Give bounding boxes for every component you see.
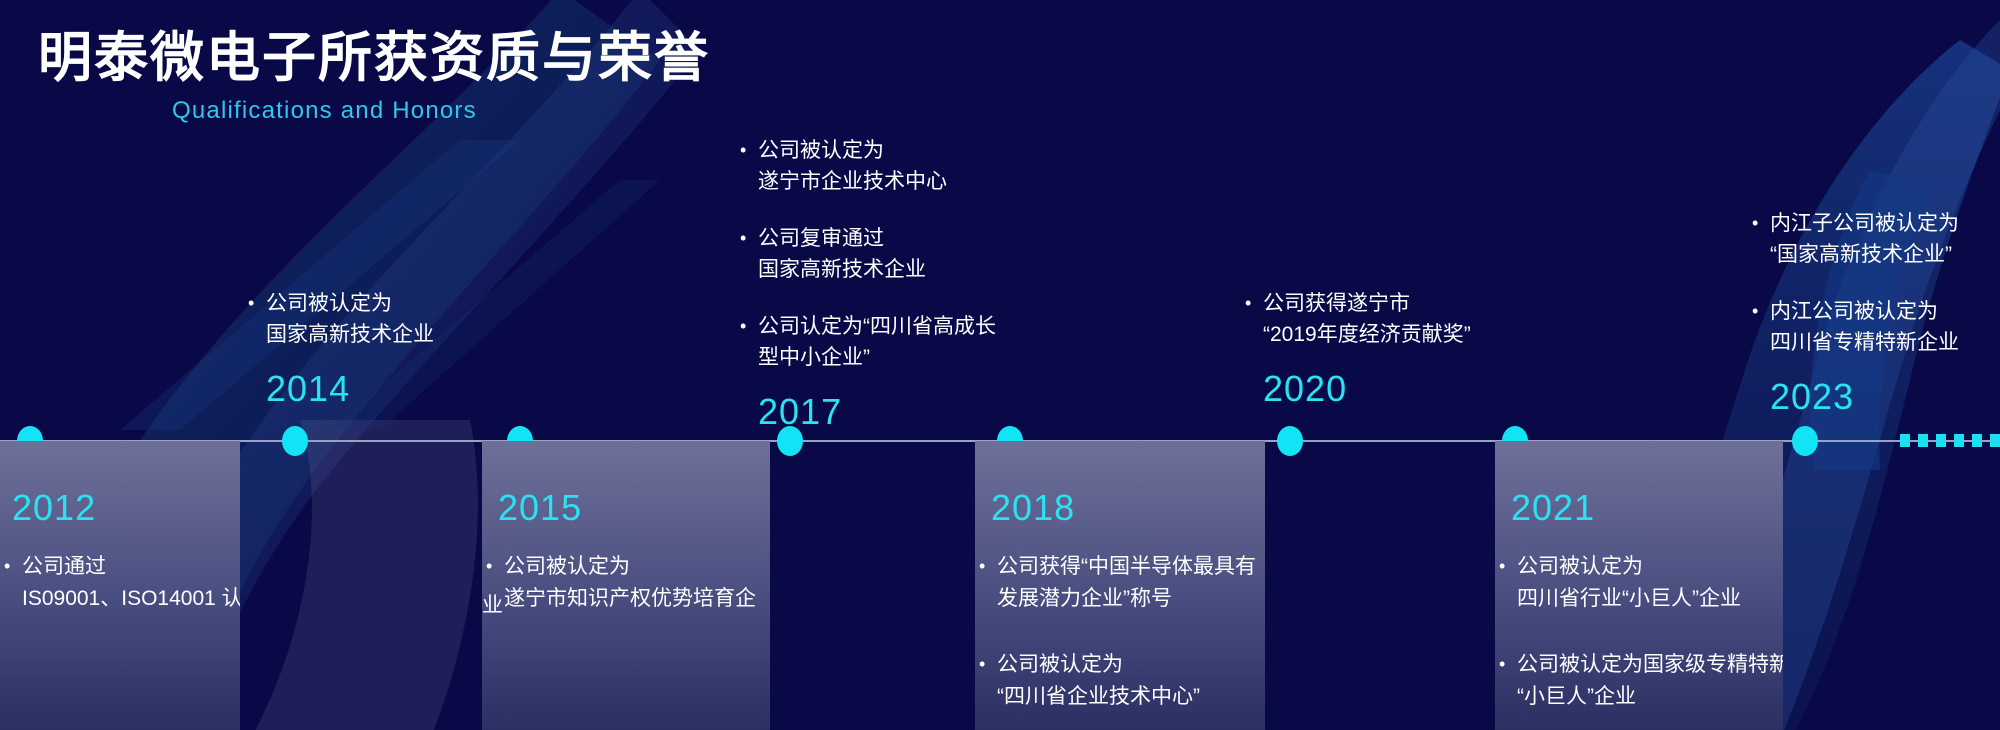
list-item: •公司被认定为四川省行业“小巨人”企业 [1499,551,1783,615]
overflow-text-2015: 业 [482,590,503,622]
dot-2020[interactable] [1277,426,1303,456]
year-label-2015: 2015 [498,487,582,529]
timeline-entry-2017: •公司被认定为遂宁市企业技术中心•公司复审通过国家高新技术企业•公司认定为“四川… [740,135,996,433]
year-label-2023: 2023 [1770,376,1959,418]
entry-2017-bullet-list: •公司被认定为遂宁市企业技术中心•公司复审通过国家高新技术企业•公司认定为“四川… [740,135,996,373]
text-line: 公司被认定为国家级专精特新 [1517,649,1783,681]
year-label-2017: 2017 [758,391,996,433]
timeline-entry-2020: •公司获得遂宁市“2019年度经济贡献奖”2020 [1245,288,1471,410]
text-line: “四川省企业技术中心” [997,681,1200,713]
text-line: 公司复审通过 [758,223,926,254]
entry-2021-bullet-list: •公司被认定为四川省行业“小巨人”企业•公司被认定为国家级专精特新“小巨人”企业 [1499,551,1783,730]
list-item-text: 公司认定为“四川省高成长型中小企业” [758,311,996,373]
list-item: •公司通过IS09001、ISO14001 认证 [4,551,240,615]
list-item: •内江公司被认定为四川省专精特新企业 [1752,296,1959,358]
list-item-text: 公司被认定为遂宁市企业技术中心 [758,135,947,197]
list-item: •公司认定为“四川省高成长型中小企业” [740,311,996,373]
bullet-dot-icon: • [740,223,758,285]
list-item: •公司复审通过国家高新技术企业 [740,223,996,285]
text-line: 公司被认定为 [758,135,947,166]
bullet-dot-icon: • [4,551,22,615]
text-line: 国家高新技术企业 [266,319,434,350]
year-label-2021: 2021 [1511,487,1595,529]
text-line: 公司通过 [22,551,240,583]
year-label-2020: 2020 [1263,368,1471,410]
year-label-2012: 2012 [12,487,96,529]
dash-mark [1918,434,1928,447]
year-label-2018: 2018 [991,487,1075,529]
entry-2020-bullet-list: •公司获得遂宁市“2019年度经济贡献奖” [1245,288,1471,350]
dash-mark [1900,434,1910,447]
list-item: •公司获得遂宁市“2019年度经济贡献奖” [1245,288,1471,350]
bullet-dot-icon: • [1752,296,1770,358]
list-item: •公司被认定为“四川省企业技术中心” [979,649,1256,713]
list-item: •公司被认定为国家高新技术企业 [248,288,434,350]
text-line: “小巨人”企业 [1517,681,1783,713]
text-line: 公司被认定为 [1517,551,1741,583]
text-line: “2019年度经济贡献奖” [1263,319,1471,350]
text-line: “国家高新技术企业” [1770,239,1959,270]
text-line: 公司被认定为 [504,551,756,583]
text-line: 公司被认定为 [997,649,1200,681]
bullet-dot-icon: • [1752,208,1770,270]
timeline-infographic: 明泰微电子所获资质与荣誉 Qualifications and Honors •… [0,0,2000,730]
text-line: 发展潜力企业”称号 [997,583,1256,615]
list-item: •公司被认定为遂宁市知识产权优势培育企 [486,551,756,615]
page-subtitle: Qualifications and Honors [172,97,710,125]
bullet-dot-icon: • [740,135,758,197]
entry-2018-bullet-list: •公司获得“中国半导体最具有发展潜力企业”称号•公司被认定为“四川省企业技术中心… [979,551,1256,730]
text-line: 内江子公司被认定为 [1770,208,1959,239]
timeline-continuation-dashes [1900,434,2000,447]
bullet-dot-icon: • [248,288,266,350]
bullet-dot-icon: • [740,311,758,373]
dash-mark [1936,434,1946,447]
list-item-text: 内江子公司被认定为“国家高新技术企业” [1770,208,1959,270]
dash-mark [1972,434,1982,447]
list-item-text: 内江公司被认定为四川省专精特新企业 [1770,296,1959,358]
list-item-text: 公司被认定为遂宁市知识产权优势培育企 [504,551,756,615]
list-item-text: 公司复审通过国家高新技术企业 [758,223,926,285]
text-line: 遂宁市企业技术中心 [758,166,947,197]
text-line: 公司认定为“四川省高成长 [758,311,996,342]
list-item-text: 公司获得遂宁市“2019年度经济贡献奖” [1263,288,1471,350]
bullet-dot-icon: • [1499,551,1517,615]
header: 明泰微电子所获资质与荣誉 Qualifications and Honors [38,30,710,125]
list-item-text: 公司被认定为国家级专精特新“小巨人”企业 [1517,649,1783,713]
list-item-text: 公司被认定为“四川省企业技术中心” [997,649,1200,713]
text-line: 公司获得“中国半导体最具有 [997,551,1256,583]
text-line: IS09001、ISO14001 认证 [22,583,240,615]
bullet-dot-icon: • [1245,288,1263,350]
list-item: •公司被认定为国家级专精特新“小巨人”企业 [1499,649,1783,713]
list-item: •公司被认定为遂宁市企业技术中心 [740,135,996,197]
text-line: 国家高新技术企业 [758,254,926,285]
timeline-panel-2018: 2018•公司获得“中国半导体最具有发展潜力企业”称号•公司被认定为“四川省企业… [975,441,1265,730]
text-line: 公司获得遂宁市 [1263,288,1471,319]
list-item: •内江子公司被认定为“国家高新技术企业” [1752,208,1959,270]
timeline-panel-2012: 2012•公司通过IS09001、ISO14001 认证 [0,441,240,730]
dot-2014[interactable] [282,426,308,456]
text-line: 四川省行业“小巨人”企业 [1517,583,1741,615]
bullet-dot-icon: • [979,551,997,615]
timeline-entry-2014: •公司被认定为国家高新技术企业2014 [248,288,434,410]
page-title: 明泰微电子所获资质与荣誉 [38,30,710,87]
entry-2014-bullet-list: •公司被认定为国家高新技术企业 [248,288,434,350]
dash-mark [1954,434,1964,447]
entry-2012-bullet-list: •公司通过IS09001、ISO14001 认证 [4,551,240,649]
list-item-text: 公司获得“中国半导体最具有发展潜力企业”称号 [997,551,1256,615]
dash-mark [1990,434,2000,447]
timeline-panel-2021: 2021•公司被认定为四川省行业“小巨人”企业•公司被认定为国家级专精特新“小巨… [1495,441,1783,730]
bullet-dot-icon: • [1499,649,1517,713]
year-label-2014: 2014 [266,368,434,410]
text-line: 四川省专精特新企业 [1770,327,1959,358]
list-item-text: 公司被认定为国家高新技术企业 [266,288,434,350]
list-item-text: 公司被认定为四川省行业“小巨人”企业 [1517,551,1741,615]
text-line: 内江公司被认定为 [1770,296,1959,327]
list-item-text: 公司通过IS09001、ISO14001 认证 [22,551,240,615]
dot-2023[interactable] [1792,426,1818,456]
bullet-dot-icon: • [979,649,997,713]
text-line: 型中小企业” [758,342,996,373]
text-line: 公司被认定为 [266,288,434,319]
entry-2015-bullet-list: •公司被认定为遂宁市知识产权优势培育企 [486,551,756,649]
list-item: •公司获得“中国半导体最具有发展潜力企业”称号 [979,551,1256,615]
timeline-entry-2023: •内江子公司被认定为“国家高新技术企业”•内江公司被认定为四川省专精特新企业20… [1752,208,1959,418]
entry-2023-bullet-list: •内江子公司被认定为“国家高新技术企业”•内江公司被认定为四川省专精特新企业 [1752,208,1959,358]
text-line: 遂宁市知识产权优势培育企 [504,583,756,615]
timeline-panel-2015: 2015•公司被认定为遂宁市知识产权优势培育企 [482,441,770,730]
